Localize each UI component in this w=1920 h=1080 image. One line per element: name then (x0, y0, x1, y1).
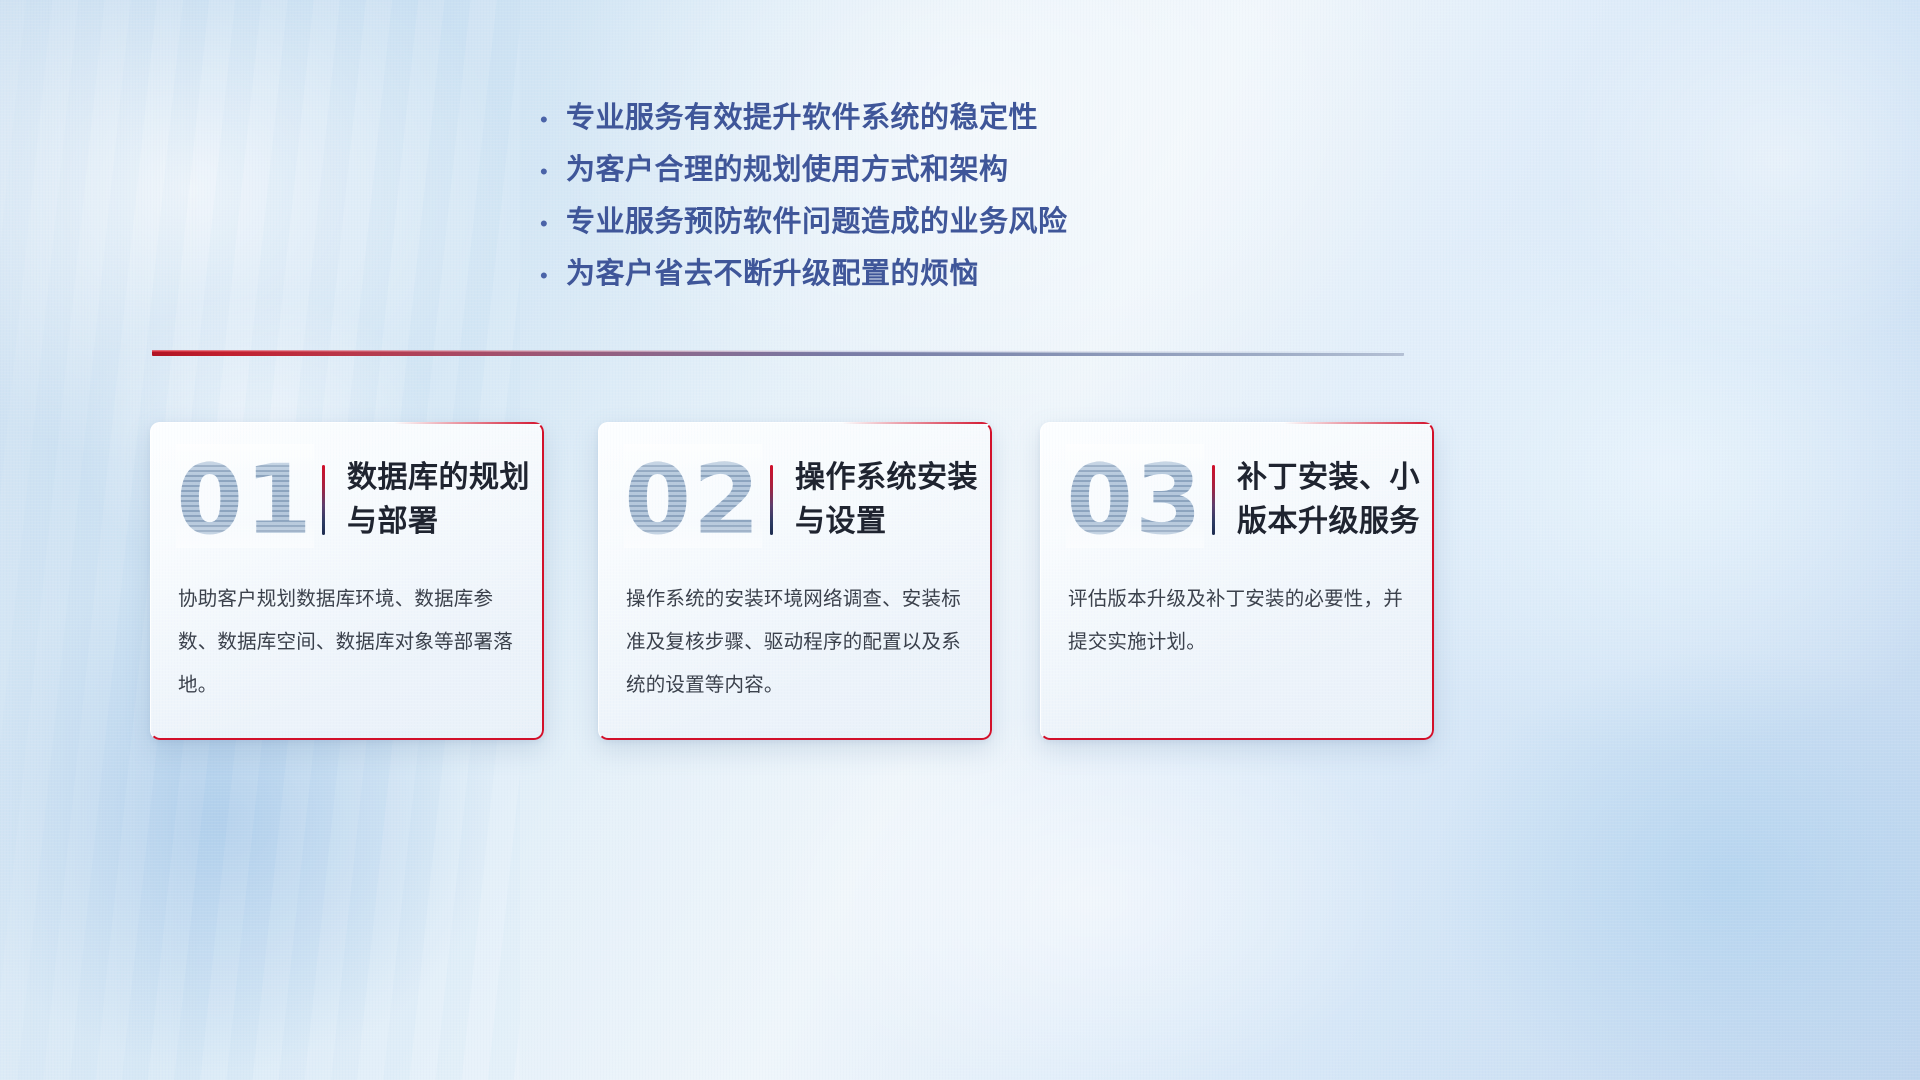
bullet-text: 专业服务有效提升软件系统的稳定性 (566, 92, 1038, 144)
bullet-point-icon: • (540, 94, 566, 146)
card-header: 02 操作系统安装 与设置 (598, 444, 992, 556)
card-title: 补丁安装、小 版本升级服务 (1237, 456, 1434, 544)
card-accent-bar (770, 465, 773, 535)
list-item: • 为客户合理的规划使用方式和架构 (540, 144, 1240, 196)
card-number-watermark: 01 (176, 448, 314, 552)
service-card[interactable]: 01 数据库的规划 与部署 协助客户规划数据库环境、数据库参数、数据库空间、数据… (150, 422, 544, 740)
benefits-bullet-list: • 专业服务有效提升软件系统的稳定性 • 为客户合理的规划使用方式和架构 • 专… (540, 92, 1240, 300)
list-item: • 专业服务有效提升软件系统的稳定性 (540, 92, 1240, 144)
slide-canvas: • 专业服务有效提升软件系统的稳定性 • 为客户合理的规划使用方式和架构 • 专… (0, 0, 1920, 1080)
card-title-line2: 与设置 (795, 500, 978, 544)
card-title: 操作系统安装 与设置 (795, 456, 992, 544)
card-title: 数据库的规划 与部署 (347, 456, 544, 544)
card-description: 协助客户规划数据库环境、数据库参数、数据库空间、数据库对象等部署落地。 (178, 578, 520, 707)
card-accent-bar (1212, 465, 1215, 535)
service-card[interactable]: 03 补丁安装、小 版本升级服务 评估版本升级及补丁安装的必要性，并提交实施计划… (1040, 422, 1434, 740)
bullet-point-icon: • (540, 146, 566, 198)
section-divider (152, 348, 1404, 362)
bullet-text: 为客户合理的规划使用方式和架构 (566, 144, 1009, 196)
service-card[interactable]: 02 操作系统安装 与设置 操作系统的安装环境网络调查、安装标准及复核步骤、驱动… (598, 422, 992, 740)
bullet-text: 为客户省去不断升级配置的烦恼 (566, 248, 979, 300)
list-item: • 专业服务预防软件问题造成的业务风险 (540, 196, 1240, 248)
card-title-line2: 版本升级服务 (1237, 500, 1420, 544)
list-item: • 为客户省去不断升级配置的烦恼 (540, 248, 1240, 300)
card-title-line1: 补丁安装、小 (1237, 456, 1420, 500)
bullet-point-icon: • (540, 198, 566, 250)
card-header: 03 补丁安装、小 版本升级服务 (1040, 444, 1434, 556)
card-title-line1: 操作系统安装 (795, 456, 978, 500)
card-title-line1: 数据库的规划 (347, 456, 530, 500)
card-header: 01 数据库的规划 与部署 (150, 444, 544, 556)
card-description: 评估版本升级及补丁安装的必要性，并提交实施计划。 (1068, 578, 1410, 664)
card-description: 操作系统的安装环境网络调查、安装标准及复核步骤、驱动程序的配置以及系统的设置等内… (626, 578, 968, 707)
bullet-point-icon: • (540, 250, 566, 302)
divider-highlight (152, 350, 1404, 352)
card-number-watermark: 03 (1066, 448, 1204, 552)
card-title-line2: 与部署 (347, 500, 530, 544)
service-card-group: 01 数据库的规划 与部署 协助客户规划数据库环境、数据库参数、数据库空间、数据… (150, 422, 1450, 742)
card-number-watermark: 02 (624, 448, 762, 552)
background-glow-corner-right (1460, 0, 1920, 440)
bullet-text: 专业服务预防软件问题造成的业务风险 (566, 196, 1068, 248)
card-accent-bar (322, 465, 325, 535)
